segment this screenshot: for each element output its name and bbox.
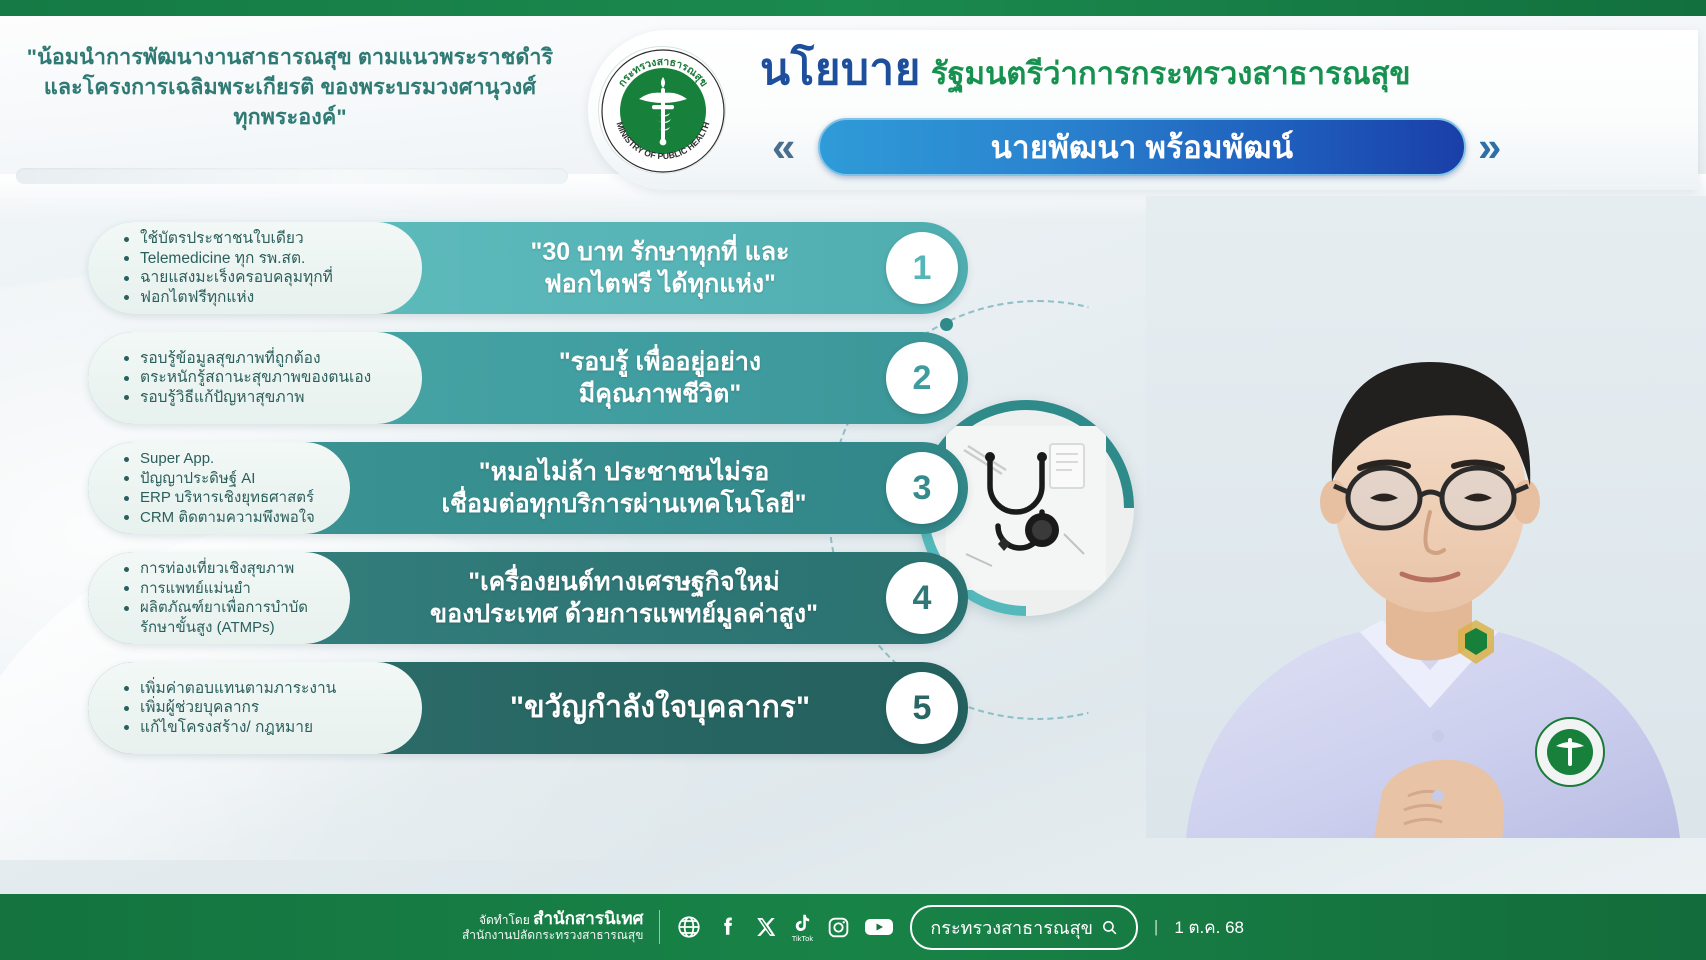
footer-separator: | (1154, 917, 1158, 937)
headline-line: "หมอไม่ล้า ประชาชนไม่รอ (364, 456, 884, 488)
search-icon (1101, 919, 1118, 936)
search-keyword-pill[interactable]: กระทรวงสาธารณสุข (910, 905, 1138, 950)
list-item: การท่องเที่ยวเชิงสุขภาพ (122, 559, 330, 579)
chevron-left-icon: « (772, 126, 795, 168)
policy-row-3[interactable]: Super App. ปัญญาประดิษฐ์ AI ERP บริหารเช… (88, 442, 968, 534)
list-item: ปัญญาประดิษฐ์ AI (122, 469, 330, 489)
badge-number: 5 (913, 689, 932, 728)
badge-number: 4 (913, 579, 932, 618)
policy-5-number-badge: 5 (886, 672, 958, 744)
policy-4-bullets: การท่องเที่ยวเชิงสุขภาพ การแพทย์แม่นยำ ผ… (88, 552, 350, 644)
list-item: CRM ติดตามความพึงพอใจ (122, 508, 330, 528)
list-item: เพิ่มค่าตอบแทนตามภาระงาน (122, 679, 402, 699)
headline-line: ฟอกไตฟรี ได้ทุกแห่ง" (436, 268, 884, 300)
badge-number: 3 (913, 469, 932, 508)
list-item: การแพทย์แม่นยำ (122, 579, 330, 599)
headline-line: เชื่อมต่อทุกบริการผ่านเทคโนโลยี" (364, 488, 884, 520)
infographic-canvas: "น้อมนำการพัฒนางานสาธารณสุข ตามแนวพระราช… (0, 0, 1706, 960)
list-item: Telemedicine ทุก รพ.สต. (122, 249, 402, 269)
instagram-icon[interactable] (826, 915, 851, 940)
policy-2-number-badge: 2 (886, 342, 958, 414)
policy-3-bullets: Super App. ปัญญาประดิษฐ์ AI ERP บริหารเช… (88, 442, 350, 534)
policy-row-4[interactable]: การท่องเที่ยวเชิงสุขภาพ การแพทย์แม่นยำ ผ… (88, 552, 968, 644)
globe-icon[interactable] (676, 914, 702, 940)
policy-1-bullets: ใช้บัตรประชาชนใบเดียว Telemedicine ทุก ร… (88, 222, 422, 314)
footer-credit: จัดทำโดย สำนักสารนิเทศ สำนักงานปลัดกระทร… (462, 911, 643, 943)
headline-line: "เครื่องยนต์ทางเศรษฐกิจใหม่ (364, 566, 884, 598)
list-item: ตระหนักรู้สถานะสุขภาพของตนเอง (122, 368, 402, 388)
quote-line-1: "น้อมนำการพัฒนางานสาธารณสุข ตามแนวพระราช… (10, 42, 570, 72)
facebook-icon[interactable] (715, 914, 741, 940)
policy-list: ใช้บัตรประชาชนใบเดียว Telemedicine ทุก ร… (88, 222, 968, 772)
headline-line: มีคุณภาพชีวิต" (436, 378, 884, 410)
title-policy-word: นโยบาย (760, 45, 921, 94)
tiktok-label: TikTok (792, 935, 813, 943)
ministry-of-public-health-logo: กระทรวงสาธารณสุข MINISTRY OF PUBLIC HEAL… (598, 46, 726, 174)
x-twitter-icon[interactable] (754, 915, 778, 939)
header-title-group: นโยบายรัฐมนตรีว่าการกระทรวงสาธารณสุข (760, 48, 1660, 92)
list-item: แก้ไขโครงสร้าง/ กฎหมาย (122, 718, 402, 738)
policy-5-bullets: เพิ่มค่าตอบแทนตามภาระงาน เพิ่มผู้ช่วยบุค… (88, 662, 422, 754)
badge-number: 2 (913, 359, 932, 398)
minister-portrait-photo (1146, 196, 1706, 838)
credit-sub: สำนักงานปลัดกระทรวงสาธารณสุข (462, 928, 643, 943)
badge-number: 1 (913, 249, 932, 288)
policy-2-bullets: รอบรู้ข้อมูลสุขภาพที่ถูกต้อง ตระหนักรู้ส… (88, 332, 422, 424)
quote-underline-bar (16, 168, 568, 184)
minister-name-label: นายพัฒนา พร้อมพัฒน์ (991, 122, 1294, 172)
list-item: ใช้บัตรประชาชนใบเดียว (122, 229, 402, 249)
headline-line: ของประเทศ ด้วยการแพทย์มูลค่าสูง" (364, 598, 884, 630)
footer-divider (659, 910, 660, 944)
credit-office: สำนักสารนิเทศ (533, 909, 643, 928)
headline-line: "30 บาท รักษาทุกที่ และ (436, 236, 884, 268)
list-item: ERP บริหารเชิงยุทธศาสตร์ (122, 488, 330, 508)
list-item: รอบรู้ข้อมูลสุขภาพที่ถูกต้อง (122, 349, 402, 369)
policy-row-2[interactable]: รอบรู้ข้อมูลสุขภาพที่ถูกต้อง ตระหนักรู้ส… (88, 332, 968, 424)
footer-bar: จัดทำโดย สำนักสารนิเทศ สำนักงานปลัดกระทร… (0, 894, 1706, 960)
minister-name-bar: นายพัฒนา พร้อมพัฒน์ (818, 118, 1466, 176)
quote-line-2: และโครงการเฉลิมพระเกียรติ ของพระบรมวงศาน… (10, 72, 570, 102)
list-item: เพิ่มผู้ช่วยบุคลากร (122, 698, 402, 718)
headline-line: "รอบรู้ เพื่ออยู่อย่าง (436, 346, 884, 378)
stethoscope-icon (946, 426, 1106, 590)
title-minister-phrase: รัฐมนตรีว่าการกระทรวงสาธารณสุข (931, 56, 1411, 91)
policy-3-headline: "หมอไม่ล้า ประชาชนไม่รอ เชื่อมต่อทุกบริก… (350, 456, 968, 520)
top-accent-strip (0, 0, 1706, 16)
list-item: ผลิตภัณฑ์ยาเพื่อการบำบัดรักษาขั้นสูง (AT… (122, 598, 330, 637)
policy-row-1[interactable]: ใช้บัตรประชาชนใบเดียว Telemedicine ทุก ร… (88, 222, 968, 314)
policy-3-number-badge: 3 (886, 452, 958, 524)
credit-prefix: จัดทำโดย (479, 913, 530, 927)
royal-initiative-quote: "น้อมนำการพัฒนางานสาธารณสุข ตามแนวพระราช… (10, 42, 570, 132)
policy-1-number-badge: 1 (886, 232, 958, 304)
policy-row-5[interactable]: เพิ่มค่าตอบแทนตามภาระงาน เพิ่มผู้ช่วยบุค… (88, 662, 968, 754)
chevron-right-icon: » (1478, 126, 1501, 168)
publish-date: 1 ต.ค. 68 (1174, 914, 1244, 941)
list-item: ฉายแสงมะเร็งครอบคลุมทุกที่ (122, 268, 402, 288)
quote-line-3: ทุกพระองค์" (10, 102, 570, 132)
youtube-icon[interactable] (864, 915, 894, 939)
list-item: รอบรู้วิธีแก้ปัญหาสุขภาพ (122, 388, 402, 408)
policy-4-number-badge: 4 (886, 562, 958, 634)
list-item: ฟอกไตฟรีทุกแห่ง (122, 288, 402, 308)
policy-4-headline: "เครื่องยนต์ทางเศรษฐกิจใหม่ ของประเทศ ด้… (350, 566, 968, 630)
headline-line: "ขวัญกำลังใจบุคลากร" (436, 692, 884, 724)
search-keyword-label: กระทรวงสาธารณสุข (930, 913, 1093, 942)
tiktok-icon[interactable]: TikTok (791, 912, 813, 943)
social-links: TikTok (676, 912, 894, 943)
list-item: Super App. (122, 449, 330, 469)
